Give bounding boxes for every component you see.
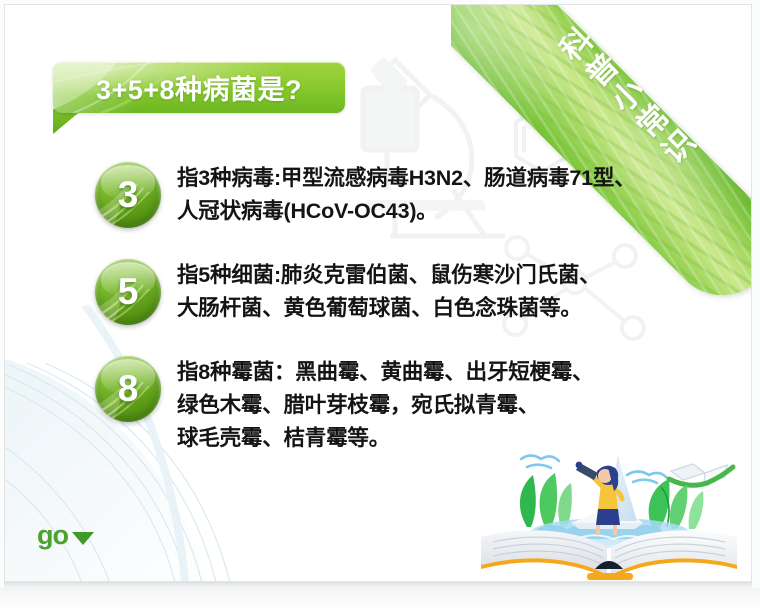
item-text: 指3种病毒:甲型流感病毒H3N2、肠道病毒71型、 人冠状病毒(HCoV-OC4… [177,160,636,228]
item-line: 指5种细菌:肺炎克雷伯菌、鼠伤寒沙门氏菌、 [177,259,600,292]
badge-number: 5 [95,259,161,325]
item-line: 人冠状病毒(HCoV-OC43)。 [177,195,636,228]
list-item: 5 指5种细菌:肺炎克雷伯菌、鼠伤寒沙门氏菌、 大肠杆菌、黄色葡萄球菌、白色念珠… [95,257,600,325]
microscope-watermark [335,40,565,270]
go-logo[interactable]: go [37,522,94,549]
infographic-page: Ph [0,0,760,611]
page-title: 3+5+8种病菌是? [53,62,345,113]
title-banner: 3+5+8种病菌是? [53,62,345,113]
go-logo-text: go [37,522,68,549]
badge-5: 5 [95,259,161,325]
item-line: 大肠杆菌、黄色葡萄球菌、白色念珠菌等。 [177,292,600,325]
chemistry-molecule-watermark: Ph [480,40,740,270]
badge-number: 3 [95,162,161,228]
item-text: 指5种细菌:肺炎克雷伯菌、鼠伤寒沙门氏菌、 大肠杆菌、黄色葡萄球菌、白色念珠菌等… [177,257,600,325]
caret-down-icon [72,532,94,545]
badge-3: 3 [95,162,161,228]
plants-left [520,473,572,527]
item-line: 指8种霉菌：黑曲霉、黄曲霉、出牙短梗霉、 [177,356,593,389]
item-line: 绿色木霉、腊叶芽枝霉，宛氏拟青霉、 [177,389,593,422]
flying-book [669,464,733,485]
open-book-illustration [475,429,745,582]
list-item: 3 指3种病毒:甲型流感病毒H3N2、肠道病毒71型、 人冠状病毒(HCoV-O… [95,160,636,228]
bottom-strip [0,588,760,611]
badge-8: 8 [95,356,161,422]
badge-number: 8 [95,356,161,422]
item-line: 指3种病毒:甲型流感病毒H3N2、肠道病毒71型、 [177,162,636,195]
content-card: Ph [4,4,752,582]
